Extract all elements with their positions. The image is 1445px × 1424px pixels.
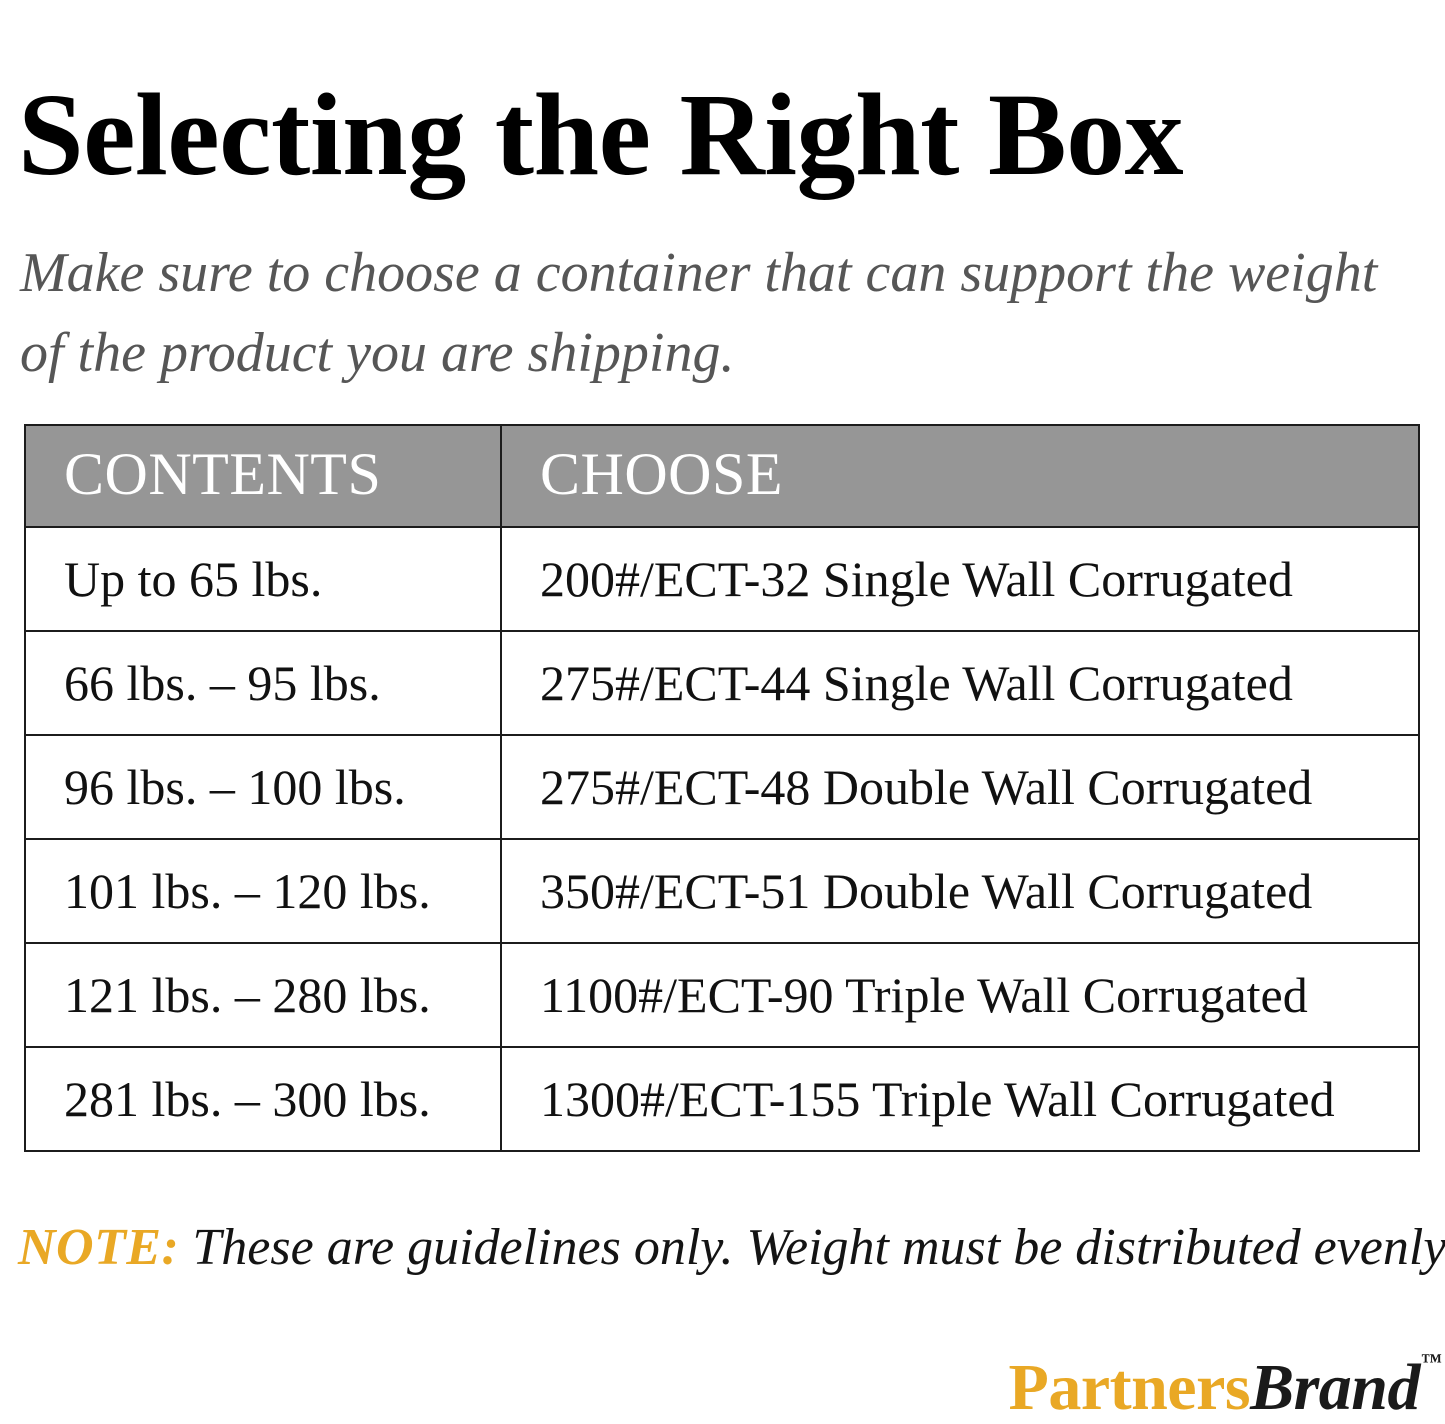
cell-contents: 121 lbs. – 280 lbs. (25, 943, 501, 1047)
box-selection-table: CONTENTS CHOOSE Up to 65 lbs. 200#/ECT-3… (24, 424, 1420, 1152)
cell-contents: Up to 65 lbs. (25, 527, 501, 631)
table-row: 281 lbs. – 300 lbs. 1300#/ECT-155 Triple… (25, 1047, 1419, 1151)
note-body: These are guidelines only. Weight must b… (192, 1219, 1445, 1276)
cell-contents: 281 lbs. – 300 lbs. (25, 1047, 501, 1151)
table-body: Up to 65 lbs. 200#/ECT-32 Single Wall Co… (25, 527, 1419, 1151)
trademark-icon: ™ (1421, 1349, 1442, 1373)
logo-word-partners: Partners (1009, 1351, 1251, 1424)
logo-word-brand: Brand (1250, 1351, 1420, 1424)
table-row: 96 lbs. – 100 lbs. 275#/ECT-48 Double Wa… (25, 735, 1419, 839)
cell-choose: 275#/ECT-44 Single Wall Corrugated (501, 631, 1419, 735)
table-row: 101 lbs. – 120 lbs. 350#/ECT-51 Double W… (25, 839, 1419, 943)
cell-contents: 96 lbs. – 100 lbs. (25, 735, 501, 839)
cell-choose: 350#/ECT-51 Double Wall Corrugated (501, 839, 1419, 943)
page-subtitle: Make sure to choose a container that can… (20, 234, 1430, 393)
note-label: NOTE: (18, 1219, 179, 1276)
column-header-choose: CHOOSE (501, 425, 1419, 527)
column-header-contents: CONTENTS (25, 425, 501, 527)
table-row: Up to 65 lbs. 200#/ECT-32 Single Wall Co… (25, 527, 1419, 631)
table-row: 121 lbs. – 280 lbs. 1100#/ECT-90 Triple … (25, 943, 1419, 1047)
cell-choose: 275#/ECT-48 Double Wall Corrugated (501, 735, 1419, 839)
partners-brand-logo: PartnersBrand™ (1009, 1355, 1442, 1421)
table-header-row: CONTENTS CHOOSE (25, 425, 1419, 527)
cell-choose: 1100#/ECT-90 Triple Wall Corrugated (501, 943, 1419, 1047)
cell-choose: 200#/ECT-32 Single Wall Corrugated (501, 527, 1419, 631)
note: NOTE: These are guidelines only. Weight … (18, 1218, 1438, 1277)
cell-choose: 1300#/ECT-155 Triple Wall Corrugated (501, 1047, 1419, 1151)
page-title: Selecting the Right Box (18, 65, 1438, 204)
cell-contents: 66 lbs. – 95 lbs. (25, 631, 501, 735)
cell-contents: 101 lbs. – 120 lbs. (25, 839, 501, 943)
table-row: 66 lbs. – 95 lbs. 275#/ECT-44 Single Wal… (25, 631, 1419, 735)
